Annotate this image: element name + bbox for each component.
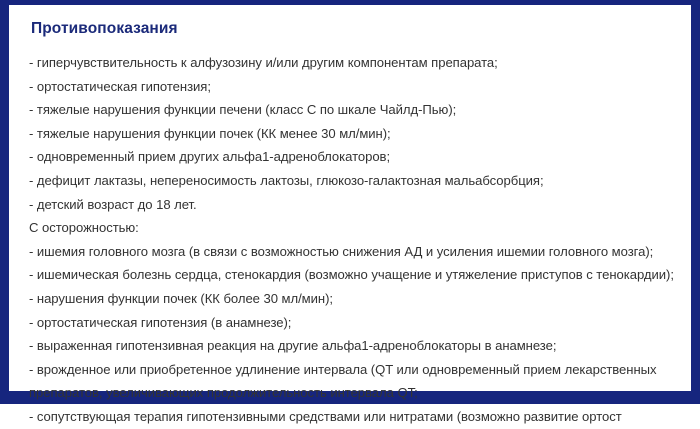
list-item: - нарушения функции почек (КК более 30 м…	[29, 287, 691, 311]
list-item: - тяжелые нарушения функции печени (клас…	[29, 98, 691, 122]
list-item: - дефицит лактазы, непереносимость лакто…	[29, 169, 691, 193]
caution-heading: С осторожностью:	[29, 216, 691, 240]
list-item: - тяжелые нарушения функции почек (КК ме…	[29, 122, 691, 146]
contraindications-card: Противопоказания - гиперчувствительность…	[0, 0, 700, 404]
contraindications-list: - гиперчувствительность к алфузозину и/и…	[29, 51, 691, 429]
page-title: Противопоказания	[31, 19, 691, 39]
list-item: - одновременный прием других альфа1-адре…	[29, 145, 691, 169]
list-item: - ишемическая болезнь сердца, стенокарди…	[29, 263, 691, 287]
list-item: - выраженная гипотензивная реакция на др…	[29, 334, 691, 358]
list-item: - детский возраст до 18 лет.	[29, 193, 691, 217]
list-item: - гиперчувствительность к алфузозину и/и…	[29, 51, 691, 75]
list-item: - сопутствующая терапия гипотензивными с…	[29, 405, 691, 429]
list-item: препаратов, увеличивающих продолжительно…	[29, 381, 691, 405]
list-item: - ишемия головного мозга (в связи с возм…	[29, 240, 691, 264]
list-item: - ортостатическая гипотензия;	[29, 75, 691, 99]
list-item: - врожденное или приобретенное удлинение…	[29, 358, 691, 382]
list-item: - ортостатическая гипотензия (в анамнезе…	[29, 311, 691, 335]
card-content: Противопоказания - гиперчувствительность…	[9, 5, 691, 391]
